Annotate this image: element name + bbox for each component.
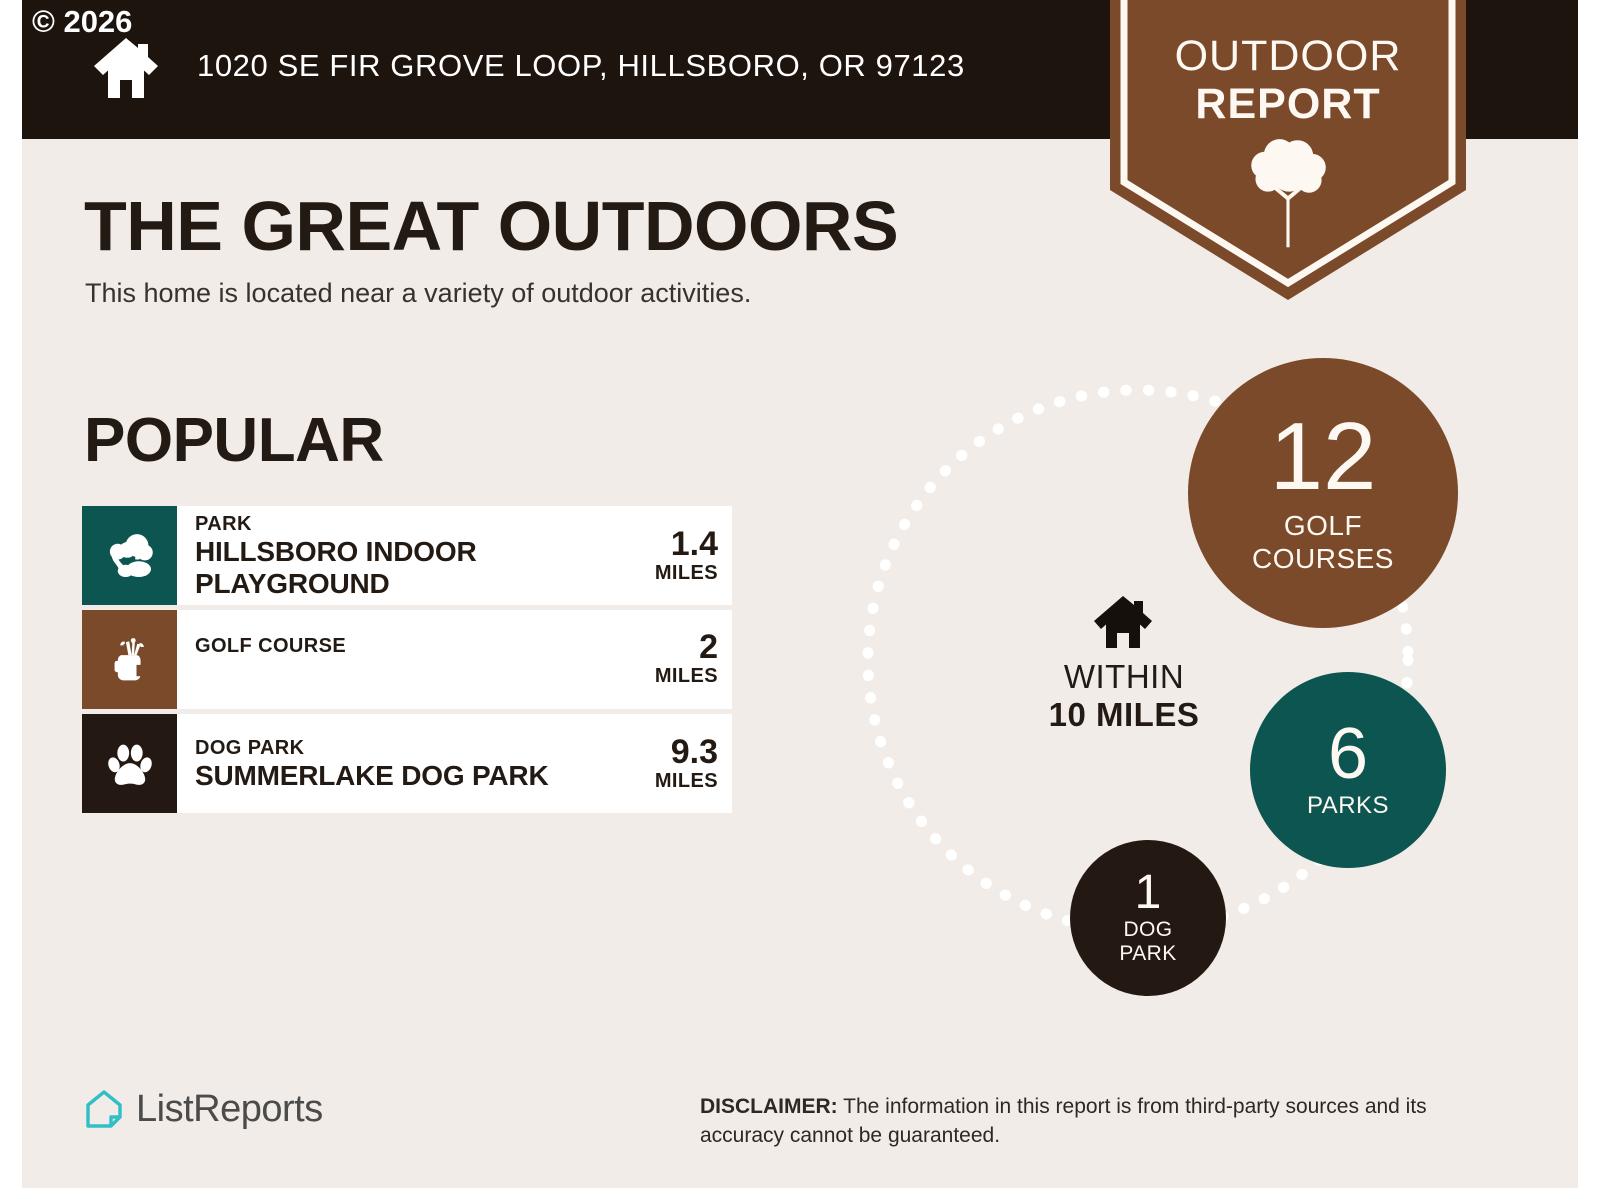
property-address: 1020 SE FIR GROVE LOOP, HILLSBORO, OR 97… <box>197 48 965 84</box>
list-item-name: SUMMERLAKE DOG PARK <box>195 760 548 792</box>
copyright-label: © 2026 <box>32 2 132 42</box>
outdoor-report-badge: OUTDOOR REPORT <box>1110 0 1466 300</box>
parks-label: PARKS <box>1307 792 1389 820</box>
distance-unit: MILES <box>634 561 718 585</box>
list-item-labels: GOLF COURSE <box>195 610 346 658</box>
stat-bubble-dog-park[interactable]: 1 DOG PARK <box>1070 840 1226 996</box>
within-label: WITHIN 10 MILES <box>990 658 1258 734</box>
dog-park-label-line1: DOG <box>1123 918 1172 941</box>
listreports-wordmark: ListReports <box>136 1088 323 1131</box>
golf-courses-label-line2: COURSES <box>1252 543 1394 574</box>
distance-unit: MILES <box>634 664 718 688</box>
within-line2: 10 MILES <box>990 696 1258 734</box>
list-item-distance: 1.4 MILES <box>634 527 718 585</box>
distance-value: 9.3 <box>634 735 718 769</box>
list-item-distance: 9.3 MILES <box>634 735 718 793</box>
dog-park-count: 1 <box>1135 870 1162 916</box>
golf-courses-label-line1: GOLF <box>1284 510 1362 541</box>
list-item-labels: PARK HILLSBORO INDOOR PLAYGROUND <box>195 512 634 600</box>
list-item[interactable]: PARK HILLSBORO INDOOR PLAYGROUND 1.4 MIL… <box>82 506 732 605</box>
page-title: THE GREAT OUTDOORS <box>84 186 898 266</box>
distance-unit: MILES <box>634 769 718 793</box>
badge-title-line1: OUTDOOR <box>1175 32 1402 80</box>
distance-value: 2 <box>634 630 718 664</box>
disclaimer: DISCLAIMER: The information in this repo… <box>700 1092 1490 1150</box>
list-item-labels: DOG PARK SUMMERLAKE DOG PARK <box>195 736 548 792</box>
page-subtitle: This home is located near a variety of o… <box>85 278 751 309</box>
outdoor-report-page: © 2026 1020 SE FIR GROVE LOOP, HILLSBORO… <box>0 0 1600 1200</box>
listreports-logo[interactable]: ListReports <box>84 1088 323 1131</box>
parks-count: 6 <box>1328 720 1368 788</box>
badge-title: OUTDOOR REPORT <box>1110 32 1466 128</box>
list-item-kind: GOLF COURSE <box>195 634 346 658</box>
list-item-body: PARK HILLSBORO INDOOR PLAYGROUND 1.4 MIL… <box>177 506 732 605</box>
within-10-miles-diagram: WITHIN 10 MILES 12 GOLF COURSES 6 PARKS … <box>830 350 1530 1030</box>
list-item[interactable]: DOG PARK SUMMERLAKE DOG PARK 9.3 MILES <box>82 714 732 813</box>
popular-heading: POPULAR <box>84 405 384 476</box>
stat-bubble-parks[interactable]: 6 PARKS <box>1250 672 1446 868</box>
park-trees-icon <box>82 506 177 605</box>
paw-print-icon <box>82 714 177 813</box>
popular-list: PARK HILLSBORO INDOOR PLAYGROUND 1.4 MIL… <box>82 506 732 818</box>
listreports-house-icon <box>84 1089 124 1131</box>
badge-title-line2: REPORT <box>1195 80 1380 128</box>
list-item[interactable]: GOLF COURSE 2 MILES <box>82 610 732 709</box>
distance-value: 1.4 <box>634 527 718 561</box>
list-item-distance: 2 MILES <box>634 610 718 688</box>
golf-courses-count: 12 <box>1270 411 1377 503</box>
list-item-kind: DOG PARK <box>195 736 548 760</box>
dog-park-label-line2: PARK <box>1119 942 1176 965</box>
dog-park-label: DOG PARK <box>1119 918 1176 966</box>
house-icon <box>1092 593 1154 651</box>
golf-courses-label: GOLF COURSES <box>1252 509 1394 575</box>
list-item-kind: PARK <box>195 512 634 536</box>
golf-bag-icon <box>82 610 177 709</box>
list-item-body: DOG PARK SUMMERLAKE DOG PARK 9.3 MILES <box>177 714 732 813</box>
list-item-name: HILLSBORO INDOOR PLAYGROUND <box>195 536 634 600</box>
stat-bubble-golf-courses[interactable]: 12 GOLF COURSES <box>1188 358 1458 628</box>
within-line1: WITHIN <box>990 658 1258 696</box>
list-item-body: GOLF COURSE 2 MILES <box>177 610 732 709</box>
house-icon <box>90 32 162 104</box>
disclaimer-label: DISCLAIMER: <box>700 1095 838 1118</box>
